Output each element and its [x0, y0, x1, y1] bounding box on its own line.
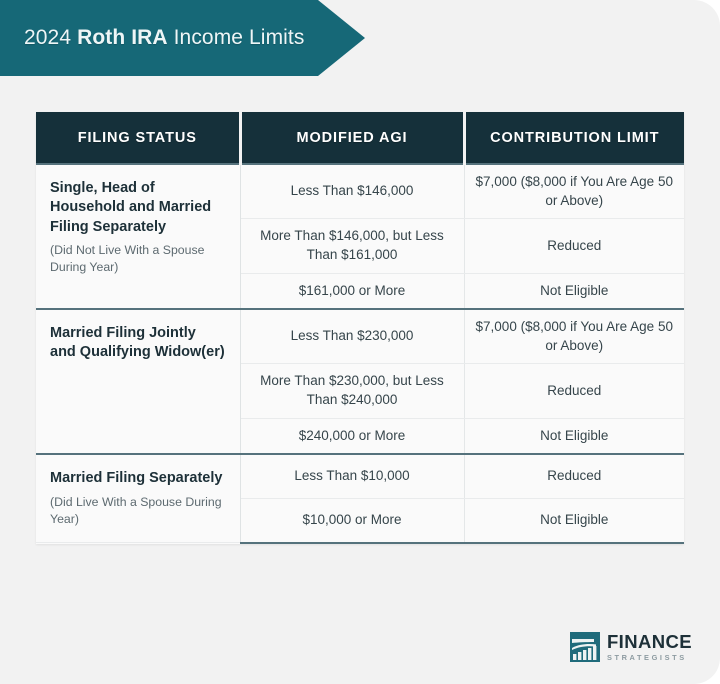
table-body: Single, Head of Household and Married Fi… — [36, 164, 684, 543]
agi-cell: $161,000 or More — [240, 273, 464, 309]
limit-cell: Not Eligible — [464, 418, 684, 454]
table-row: Married Filing Separately (Did Live With… — [36, 454, 684, 498]
agi-cell: $10,000 or More — [240, 499, 464, 543]
filing-status-note: (Did Live With a Spouse During Year) — [50, 494, 226, 529]
limit-cell: Reduced — [464, 219, 684, 273]
title-bold: Roth IRA — [77, 26, 168, 49]
logo-name: FINANCE — [607, 633, 692, 652]
income-limits-table-wrapper: FILING STATUS MODIFIED AGI CONTRIBUTION … — [36, 112, 684, 544]
agi-cell: $240,000 or More — [240, 418, 464, 454]
filing-status-title: Married Filing Jointly and Qualifying Wi… — [50, 324, 226, 363]
limit-cell: $7,000 ($8,000 if You Are Age 50 or Abov… — [464, 309, 684, 364]
title-banner: 2024 Roth IRA Income Limits — [0, 0, 365, 76]
table-header-row: FILING STATUS MODIFIED AGI CONTRIBUTION … — [36, 112, 684, 164]
agi-cell: Less Than $230,000 — [240, 309, 464, 364]
column-header-filing-status: FILING STATUS — [36, 112, 240, 164]
table-row: Single, Head of Household and Married Fi… — [36, 164, 684, 219]
agi-cell: Less Than $10,000 — [240, 454, 464, 498]
table-row: Married Filing Jointly and Qualifying Wi… — [36, 309, 684, 364]
finance-strategists-logo: FINANCE STRATEGISTS — [570, 632, 692, 662]
logo-wordmark: FINANCE STRATEGISTS — [607, 633, 692, 661]
title-suffix: Income Limits — [168, 26, 305, 49]
table-header: FILING STATUS MODIFIED AGI CONTRIBUTION … — [36, 112, 684, 164]
limit-cell: Reduced — [464, 364, 684, 418]
bridge-bars-icon — [570, 632, 600, 662]
page-title: 2024 Roth IRA Income Limits — [0, 26, 304, 50]
limit-cell: Not Eligible — [464, 273, 684, 309]
agi-cell: More Than $230,000, but Less Than $240,0… — [240, 364, 464, 418]
agi-cell: More Than $146,000, but Less Than $161,0… — [240, 219, 464, 273]
limit-cell: Reduced — [464, 454, 684, 498]
limit-cell: Not Eligible — [464, 499, 684, 543]
filing-status-title: Married Filing Separately — [50, 469, 226, 488]
title-prefix: 2024 — [24, 26, 77, 49]
income-limits-table: FILING STATUS MODIFIED AGI CONTRIBUTION … — [36, 112, 684, 544]
logo-mark-icon — [570, 632, 600, 662]
filing-status-cell: Married Filing Jointly and Qualifying Wi… — [36, 309, 240, 454]
agi-cell: Less Than $146,000 — [240, 164, 464, 219]
limit-cell: $7,000 ($8,000 if You Are Age 50 or Abov… — [464, 164, 684, 219]
filing-status-cell: Single, Head of Household and Married Fi… — [36, 164, 240, 309]
column-header-contribution-limit: CONTRIBUTION LIMIT — [464, 112, 684, 164]
filing-status-title: Single, Head of Household and Married Fi… — [50, 179, 226, 237]
logo-tagline: STRATEGISTS — [607, 654, 692, 661]
filing-status-cell: Married Filing Separately (Did Live With… — [36, 454, 240, 543]
column-header-modified-agi: MODIFIED AGI — [240, 112, 464, 164]
filing-status-note: (Did Not Live With a Spouse During Year) — [50, 242, 226, 277]
